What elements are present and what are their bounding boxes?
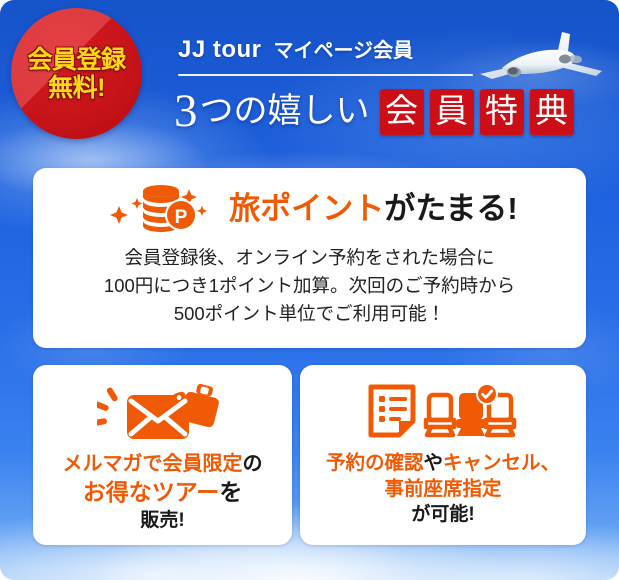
seat-line-1: 予約の確認やキャンセル、 — [300, 451, 586, 477]
benefit-card-points: P 旅ポイントがたまる! 会員登録後、オンライン予約をされた場合に 100円につ… — [33, 168, 586, 348]
badge-line-1: 会員登録 — [27, 46, 125, 74]
points-title-black: がたまる! — [384, 191, 517, 226]
mail-line-1: メルマガで会員限定の — [33, 451, 292, 477]
kanji-box-4: 典 — [530, 89, 574, 135]
mail-line-1-orange: メルマガで会員限定 — [63, 453, 243, 475]
seat-line-3-black: が可能! — [411, 504, 474, 525]
header-divider — [178, 74, 473, 76]
mail-card-text: メルマガで会員限定の お得なツアーを 販売! — [33, 451, 292, 533]
seat-line-1-black: や — [423, 452, 443, 474]
airplane-icon — [466, 26, 614, 88]
seat-line-3: が可能! — [300, 502, 586, 527]
brand-subtitle: マイページ会員 — [274, 40, 414, 62]
points-card-header: P 旅ポイントがたまる! — [33, 182, 586, 234]
brand-logo: JJ tour — [178, 36, 262, 63]
kanji-box-1: 会 — [380, 89, 424, 135]
seat-card-text: 予約の確認やキャンセル、 事前座席指定 が可能! — [300, 451, 586, 528]
document-seats-check-icon — [363, 381, 523, 443]
svg-text:P: P — [175, 207, 188, 228]
points-body-line-3: 500ポイント単位でご利用可能！ — [33, 300, 586, 328]
seat-card-icon-wrap — [300, 381, 586, 443]
badge-line-2: 無料! — [48, 74, 105, 102]
seat-line-2-orange: 事前座席指定 — [384, 478, 501, 500]
points-card-title: 旅ポイントがたまる! — [229, 193, 517, 224]
coin-stack-point-icon: P — [101, 182, 217, 234]
headline: 3 つの嬉しい 会 員 特 典 — [174, 88, 574, 135]
points-body-line-2: 100円につき1ポイント加算。次回のご予約時から — [33, 272, 586, 300]
mail-line-2: お得なツアーを — [33, 477, 292, 507]
kanji-box-2: 員 — [430, 89, 474, 135]
mail-line-2-orange: お得なツアー — [83, 479, 220, 505]
mail-line-1-black: の — [243, 453, 263, 475]
envelope-suitcase-icon — [97, 381, 229, 443]
mail-line-2-black: を — [219, 479, 242, 505]
seat-line-1-orange-2: キャンセル、 — [443, 452, 560, 474]
free-registration-badge: 会員登録 無料! — [11, 8, 142, 139]
seat-line-1-orange: 予約の確認 — [326, 452, 424, 474]
points-body-line-1: 会員登録後、オンライン予約をされた場合に — [33, 244, 586, 272]
seat-line-2: 事前座席指定 — [300, 477, 586, 503]
mail-line-3: 販売! — [33, 508, 292, 533]
benefit-card-reservation: 予約の確認やキャンセル、 事前座席指定 が可能! — [300, 365, 586, 545]
points-card-body: 会員登録後、オンライン予約をされた場合に 100円につき1ポイント加算。次回のご… — [33, 244, 586, 328]
mail-card-icon-wrap — [33, 381, 292, 443]
benefit-card-mailmagazine: メルマガで会員限定の お得なツアーを 販売! — [33, 365, 292, 545]
headline-number: 3 — [174, 88, 198, 135]
membership-benefits-banner: JJ tourマイページ会員 3 つの嬉しい 会 員 特 典 会員登録 無料! — [0, 0, 619, 580]
brand-line: JJ tourマイページ会員 — [178, 34, 413, 64]
mail-line-3-black: 販売! — [140, 510, 184, 531]
headline-rest: つの嬉しい — [200, 95, 370, 129]
points-title-orange: 旅ポイント — [229, 191, 384, 226]
kanji-box-3: 特 — [480, 89, 524, 135]
